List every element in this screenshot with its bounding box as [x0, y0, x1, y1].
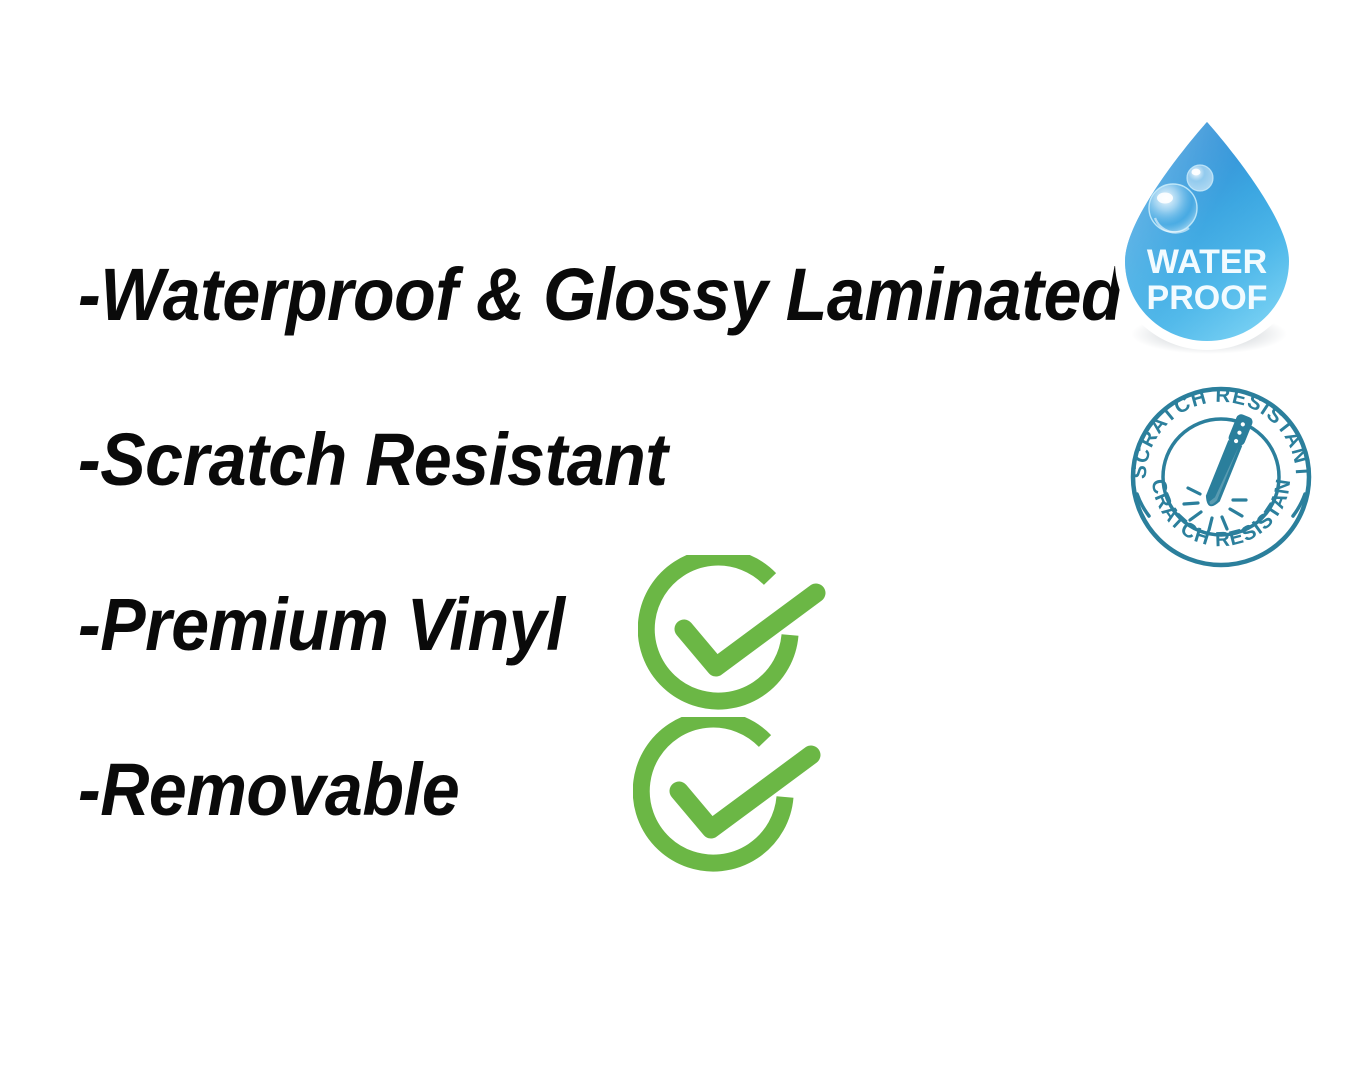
check-circle-icon-removable	[633, 717, 833, 887]
knife-handle	[1227, 413, 1254, 447]
feature-item-removable: -Removable	[78, 753, 459, 827]
waterproof-label-line1: WATER	[1147, 243, 1267, 281]
scratch-resistant-badge: SCRATCH RESISTANT SCRATCH RESISTANT	[1126, 382, 1316, 572]
feature-item-premium-vinyl: -Premium Vinyl	[78, 588, 565, 662]
water-bubble-large-highlight	[1157, 193, 1173, 204]
feature-item-scratch-resistant: -Scratch Resistant	[78, 423, 668, 497]
check-circle-icon-premium-vinyl	[638, 555, 838, 725]
waterproof-badge: WATER PROOF	[1103, 106, 1311, 358]
waterproof-label-line2: PROOF	[1147, 279, 1268, 317]
check-mark	[684, 593, 816, 667]
check-mark	[679, 755, 811, 829]
water-bubble-small-icon	[1187, 165, 1213, 191]
water-bubble-large-icon	[1149, 184, 1197, 232]
feature-item-waterproof-glossy-laminated: -Waterproof & Glossy Laminated	[78, 258, 1122, 332]
water-bubble-small-highlight	[1192, 169, 1201, 176]
knife-icon	[1202, 413, 1254, 509]
feature-list-graphic: -Waterproof & Glossy Laminated -Scratch …	[0, 0, 1359, 1080]
